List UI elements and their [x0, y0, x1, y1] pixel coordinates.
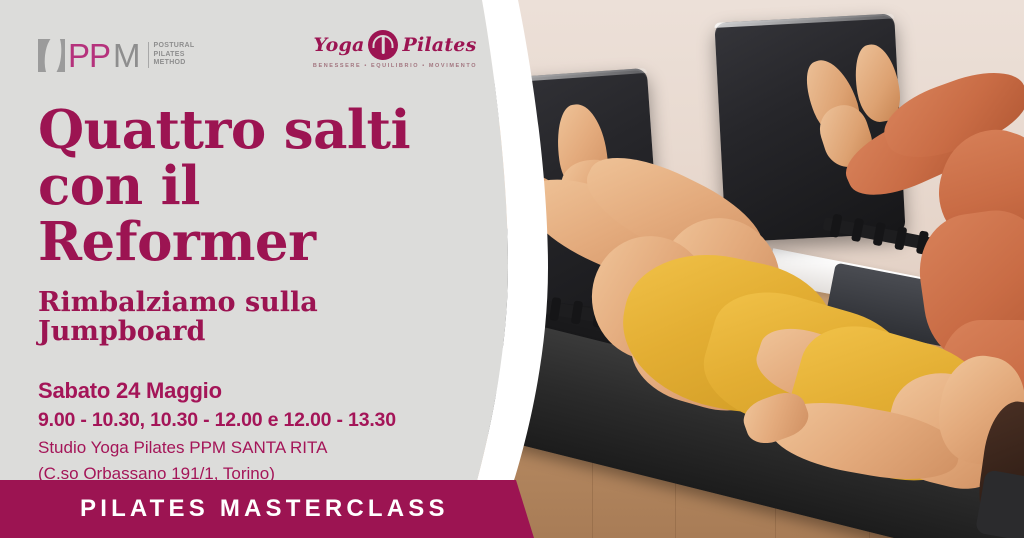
yoga-pilates-logo: Yoga Pilates BENESSERE • EQUILIBRIO • MO… [310, 30, 480, 69]
ppm-initials-m: M [113, 39, 140, 72]
content-panel: PP M POSTURAL PILATES METHOD Yoga Pilate… [0, 0, 470, 538]
yp-word-pilates: Pilates [402, 34, 476, 56]
headline: Quattro salti con il Reformer [38, 102, 470, 271]
ppm-logo: PP M POSTURAL PILATES METHOD [38, 39, 194, 72]
bottom-banner: PILATES MASTERCLASS [0, 480, 534, 538]
ppm-word-method: METHOD [154, 59, 195, 68]
spine-silhouette-mark-icon [38, 39, 65, 72]
pilates-photo [470, 0, 1024, 538]
yoga-pilates-tagline: BENESSERE • EQUILIBRIO • MOVIMENTO [310, 63, 480, 69]
person-in-circle-emblem-icon [368, 30, 398, 60]
ppm-initials-pp: PP [68, 39, 110, 72]
banner-label: PILATES MASTERCLASS [80, 495, 449, 523]
event-date: Sabato 24 Maggio [38, 376, 470, 406]
headline-line-2: con il Reformer [38, 158, 470, 270]
yoga-pilates-wordmark: Yoga Pilates [310, 30, 480, 60]
yp-word-yoga: Yoga [314, 34, 365, 56]
ppm-word-postural: POSTURAL [154, 42, 195, 51]
ppm-wordmark: POSTURAL PILATES METHOD [148, 42, 195, 69]
event-venue: Studio Yoga Pilates PPM SANTA RITA [38, 435, 470, 461]
event-times: 9.00 - 10.30, 10.30 - 12.00 e 12.00 - 13… [38, 406, 470, 435]
ppm-word-pilates: PILATES [154, 51, 195, 60]
poster-root: PP M POSTURAL PILATES METHOD Yoga Pilate… [0, 0, 1024, 538]
logo-row: PP M POSTURAL PILATES METHOD Yoga Pilate… [38, 26, 470, 84]
headline-line-1: Quattro salti [38, 102, 470, 158]
subheadline: Rimbalziamo sulla Jumpboard [38, 288, 470, 347]
